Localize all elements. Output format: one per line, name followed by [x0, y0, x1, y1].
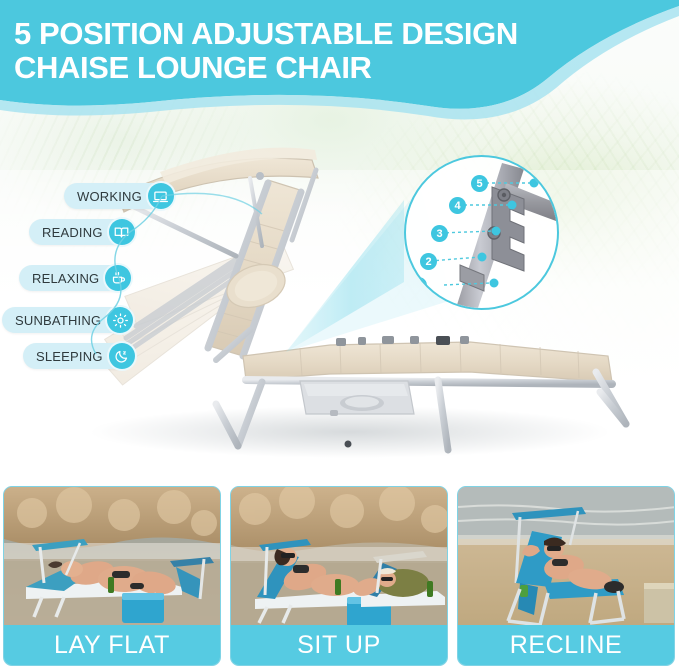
adjustment-mechanism-detail-inset: 1 2 3 4 5	[404, 155, 559, 310]
panel-caption-text: RECLINE	[510, 631, 623, 660]
position-panels-row: LAY FLAT	[0, 484, 679, 670]
panel-recline[interactable]: RECLINE	[457, 486, 675, 666]
page-title: 5 POSITION ADJUSTABLE DESIGN CHAISE LOUN…	[14, 17, 614, 85]
panel-caption-text: LAY FLAT	[54, 631, 170, 660]
panel-photo-sit-up	[231, 487, 447, 629]
position-badge-5: 5	[471, 175, 488, 192]
panel-caption-lay-flat: LAY FLAT	[4, 625, 220, 665]
panel-caption-recline: RECLINE	[458, 625, 674, 665]
title-line-1: 5 POSITION ADJUSTABLE DESIGN	[14, 17, 614, 51]
position-badge-1: 1	[410, 277, 427, 294]
hero-product-image: WORKING READING RELAXING	[0, 0, 679, 484]
position-badge-3: 3	[431, 225, 448, 242]
infographic-page: WORKING READING RELAXING	[0, 0, 679, 670]
position-badge-2: 2	[420, 253, 437, 270]
panel-lay-flat[interactable]: LAY FLAT	[3, 486, 221, 666]
panel-caption-text: SIT UP	[297, 631, 381, 660]
title-line-2: CHAISE LOUNGE CHAIR	[14, 51, 614, 85]
position-badge-4: 4	[449, 197, 466, 214]
header-banner: 5 POSITION ADJUSTABLE DESIGN CHAISE LOUN…	[0, 0, 679, 132]
panel-photo-recline	[458, 487, 674, 629]
photo-recline	[458, 487, 674, 629]
panel-sit-up[interactable]: SIT UP	[230, 486, 448, 666]
photo-lay-flat	[4, 487, 220, 629]
photo-sit-up	[231, 487, 447, 629]
panel-photo-lay-flat	[4, 487, 220, 629]
panel-caption-sit-up: SIT UP	[231, 625, 447, 665]
